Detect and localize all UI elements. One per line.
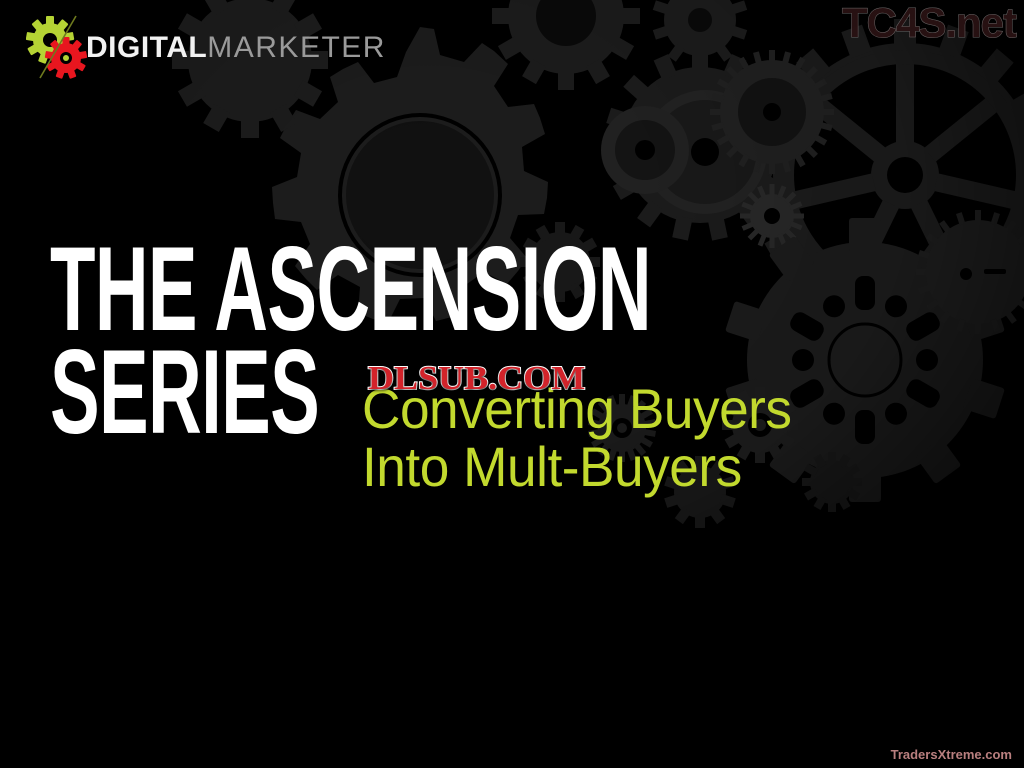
- logo-word-marketer: MARKETER: [207, 31, 386, 64]
- slide-subtitle-line-2: Into Mult-Buyers: [362, 438, 856, 496]
- gears-logo-icon: [26, 14, 88, 80]
- slide-subtitle: Converting Buyers Into Mult-Buyers: [362, 380, 882, 495]
- logo-wordmark: DIGITALMARKETER: [86, 33, 386, 63]
- tradersxtreme-watermark: TradersXtreme.com: [891, 747, 1012, 762]
- dlsub-watermark: DLSUB.COM: [368, 362, 585, 396]
- logo-word-digital: DIGITAL: [86, 31, 207, 64]
- tc4s-watermark: TC4S.net: [842, 2, 1016, 44]
- digital-marketer-logo: DIGITALMARKETER: [26, 14, 386, 80]
- presentation-slide: DIGITALMARKETER TC4S.net THE ASCENSION S…: [0, 0, 1024, 768]
